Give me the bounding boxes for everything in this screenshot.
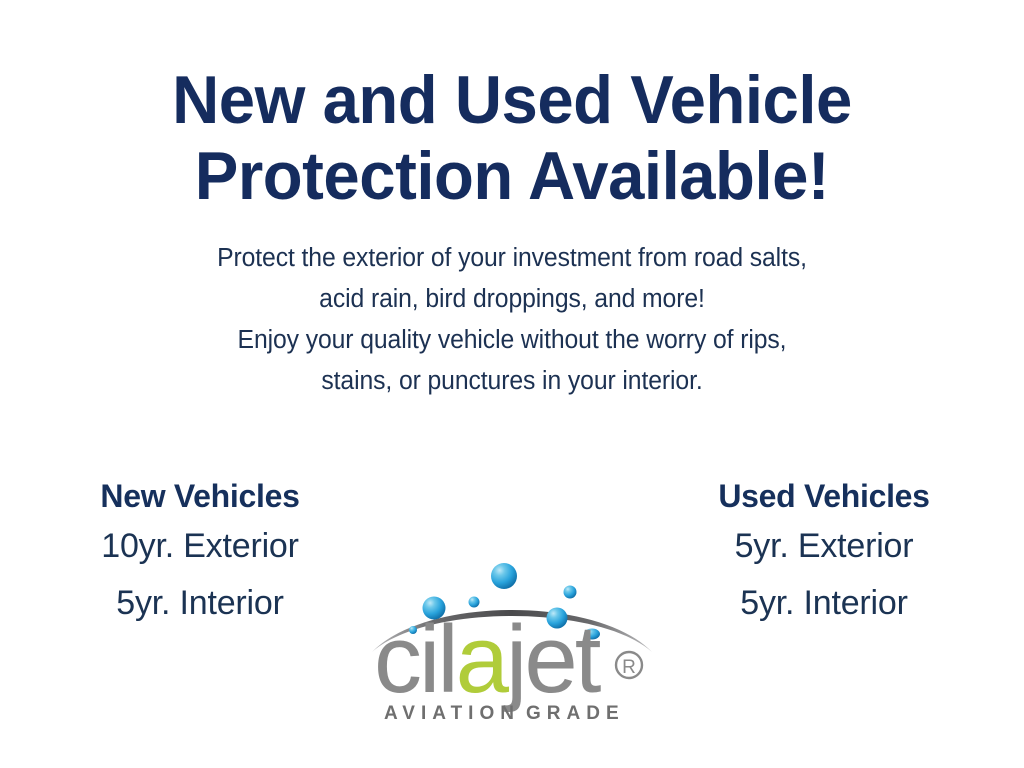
offer-item-used-exterior: 5yr. Exterior xyxy=(624,518,1024,575)
logo-wordmark-accent: a xyxy=(456,606,510,713)
offer-item-new-interior: 5yr. Interior xyxy=(0,575,400,632)
bubble-icon-large-center xyxy=(491,563,517,589)
cilajet-logo: cilajet R AVIATION GRADE xyxy=(366,552,658,730)
slide-canvas: New and Used Vehicle Protection Availabl… xyxy=(0,0,1024,768)
logo-wordmark-suffix: jet xyxy=(503,606,601,713)
bubble-icon-small-upper-right xyxy=(564,586,577,599)
offer-column-used-vehicles: Used Vehicles 5yr. Exterior 5yr. Interio… xyxy=(624,474,1024,632)
offer-item-new-exterior: 10yr. Exterior xyxy=(0,518,400,575)
page-title-line-1: New and Used Vehicle xyxy=(20,62,1003,138)
logo-tagline-left: AVIATION xyxy=(384,703,520,724)
subtitle-paragraph: Protect the exterior of your investment … xyxy=(15,238,1008,402)
subtitle-line-1: Protect the exterior of your investment … xyxy=(15,238,1008,279)
logo-tagline-right: GRADE xyxy=(526,703,625,724)
subtitle-line-3: Enjoy your quality vehicle without the w… xyxy=(15,320,1008,361)
page-title-line-2: Protection Available! xyxy=(20,138,1003,214)
offer-column-new-vehicles: New Vehicles 10yr. Exterior 5yr. Interio… xyxy=(0,474,400,632)
offer-heading-new-vehicles: New Vehicles xyxy=(0,474,400,518)
registered-trademark-letter: R xyxy=(622,657,636,678)
cilajet-logo-svg: cilajet R AVIATION GRADE xyxy=(366,552,658,730)
offer-item-used-interior: 5yr. Interior xyxy=(624,575,1024,632)
logo-wordmark: cilajet xyxy=(374,606,601,713)
subtitle-line-4: stains, or punctures in your interior. xyxy=(15,361,1008,402)
offer-heading-used-vehicles: Used Vehicles xyxy=(624,474,1024,518)
logo-wordmark-prefix: cil xyxy=(374,606,456,713)
page-title: New and Used Vehicle Protection Availabl… xyxy=(20,62,1003,214)
subtitle-line-2: acid rain, bird droppings, and more! xyxy=(15,279,1008,320)
